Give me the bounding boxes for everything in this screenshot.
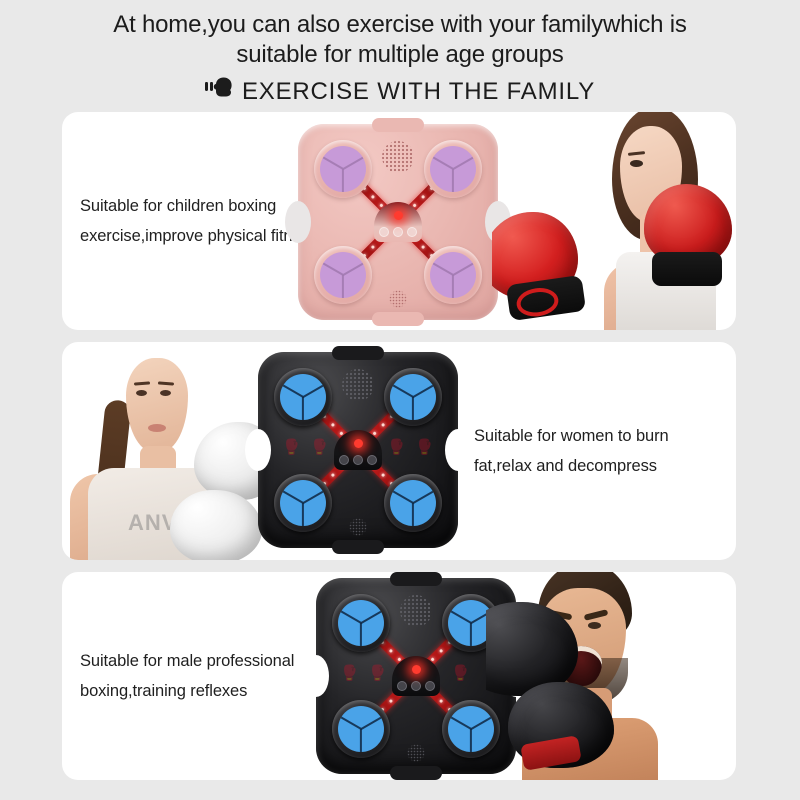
device-tab-top xyxy=(332,346,384,360)
console-buttons[interactable] xyxy=(374,227,422,237)
console-button[interactable] xyxy=(353,455,363,465)
device-notch-left xyxy=(245,429,271,471)
photo-red-glove-foreground xyxy=(492,152,642,330)
boxer-decal: 🥊 xyxy=(415,440,434,455)
console-button[interactable] xyxy=(425,681,435,691)
boxing-machine-pink xyxy=(298,124,498,320)
device-tab-top xyxy=(390,572,442,586)
page-title: At home,you can also exercise with your … xyxy=(0,10,800,70)
device-tab-bottom xyxy=(390,766,442,780)
device-notch-left xyxy=(285,201,311,243)
console-buttons[interactable] xyxy=(392,681,440,691)
boxer-decal: 🥊 xyxy=(310,440,329,455)
white-boxing-glove-lower xyxy=(170,490,262,560)
control-console[interactable] xyxy=(334,430,382,470)
target-pad[interactable] xyxy=(314,246,372,304)
console-button[interactable] xyxy=(397,681,407,691)
target-pad[interactable] xyxy=(384,474,442,532)
console-buttons[interactable] xyxy=(334,455,382,465)
boxing-machine-black: 🥊 🥊 🥊 🥊 xyxy=(258,352,458,548)
control-console[interactable] xyxy=(392,656,440,696)
control-console[interactable] xyxy=(374,202,422,242)
boxing-glove-icon xyxy=(205,76,235,107)
device-notch-left xyxy=(303,655,329,697)
console-button[interactable] xyxy=(339,455,349,465)
console-button[interactable] xyxy=(407,227,417,237)
feature-panel-women: Suitable for women to burn fat,relax and… xyxy=(62,342,736,560)
photo-woman-boxer: ANV xyxy=(62,342,272,560)
boxer-decal: 🥊 xyxy=(387,440,406,455)
target-pad[interactable] xyxy=(384,368,442,426)
boxer-decal: 🥊 xyxy=(451,666,470,681)
header: At home,you can also exercise with your … xyxy=(0,0,800,107)
feature-panel-children: Suitable for children boxing exercise,im… xyxy=(62,112,736,330)
panel-text-male: Suitable for male professional boxing,tr… xyxy=(80,646,330,706)
power-led xyxy=(412,665,421,674)
target-pad[interactable] xyxy=(424,246,482,304)
power-led xyxy=(394,211,403,220)
woman-lips xyxy=(148,424,166,432)
device-tab-bottom xyxy=(332,540,384,554)
device-tab-top xyxy=(372,118,424,132)
feature-panel-male: Suitable for male professional boxing,tr… xyxy=(62,572,736,780)
woman-eye xyxy=(160,390,171,396)
boxer-decal: 🥊 xyxy=(282,440,301,455)
subtitle-row: EXERCISE WITH THE FAMILY xyxy=(0,76,800,107)
speaker-grille-top xyxy=(381,140,415,174)
speaker-grille-top xyxy=(399,594,433,628)
speaker-grille-bottom xyxy=(349,518,367,536)
console-button[interactable] xyxy=(393,227,403,237)
console-button[interactable] xyxy=(367,455,377,465)
device-notch-right xyxy=(445,429,471,471)
panel-text-women: Suitable for women to burn fat,relax and… xyxy=(474,421,714,481)
target-pad[interactable] xyxy=(274,474,332,532)
target-pad[interactable] xyxy=(424,140,482,198)
console-button[interactable] xyxy=(379,227,389,237)
target-pad[interactable] xyxy=(314,140,372,198)
speaker-grille-top xyxy=(341,368,375,402)
target-pad[interactable] xyxy=(274,368,332,426)
woman-eye xyxy=(136,390,147,396)
power-led xyxy=(354,439,363,448)
speaker-grille-bottom xyxy=(389,290,407,308)
console-button[interactable] xyxy=(411,681,421,691)
subtitle-text: EXERCISE WITH THE FAMILY xyxy=(242,78,595,106)
boxer-decal: 🥊 xyxy=(368,666,387,681)
photo-male-boxer xyxy=(486,572,736,780)
boxer-decal: 🥊 xyxy=(340,666,359,681)
target-pad[interactable] xyxy=(332,594,390,652)
man-eye xyxy=(588,622,601,629)
target-pad[interactable] xyxy=(332,700,390,758)
speaker-grille-bottom xyxy=(407,744,425,762)
woman-face xyxy=(126,358,188,452)
glove-cuff xyxy=(652,252,722,286)
device-tab-bottom xyxy=(372,312,424,326)
